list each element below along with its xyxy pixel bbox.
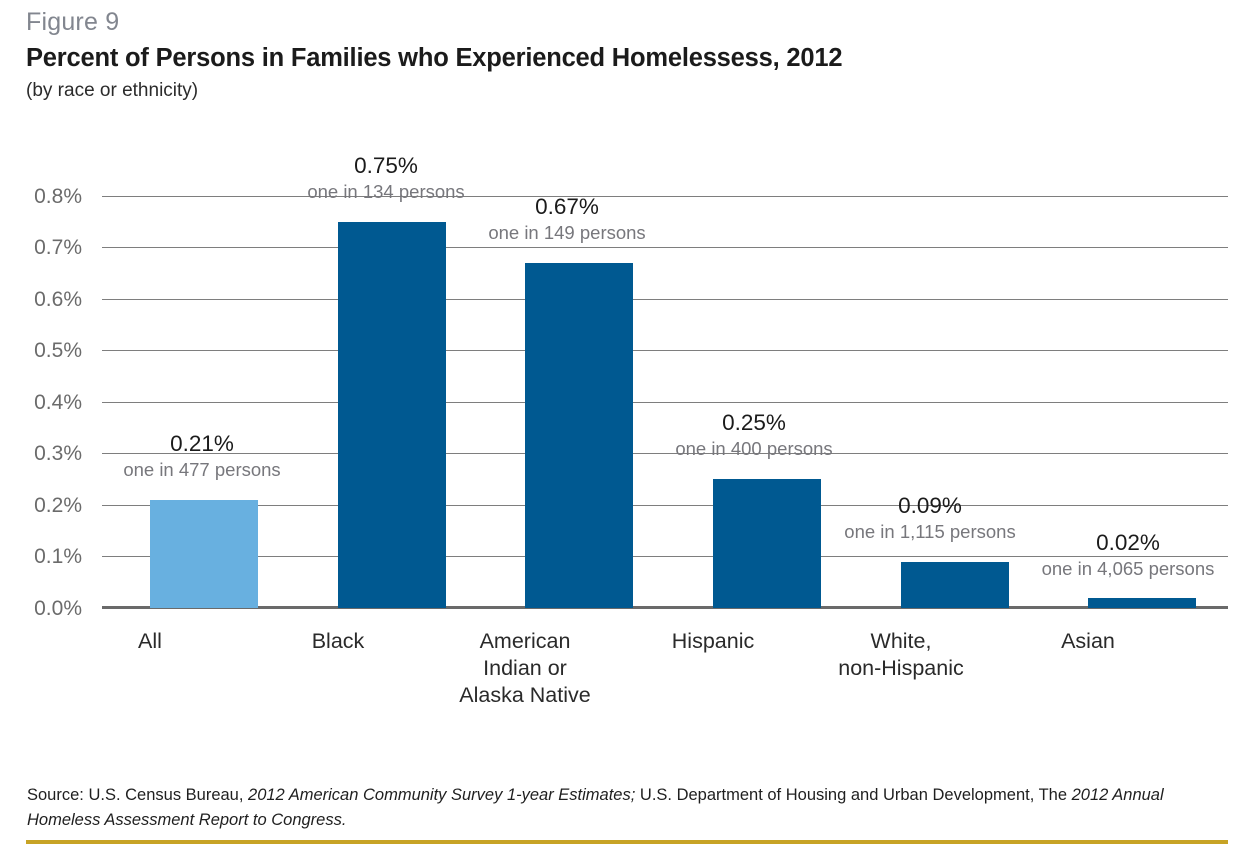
bar-all	[150, 500, 258, 608]
x-axis-label-american-indian: American Indian or Alaska Native	[431, 628, 619, 709]
bar-american-indian	[525, 263, 633, 608]
gridline	[102, 350, 1228, 351]
bar-asian	[1088, 598, 1196, 608]
bar-black	[338, 222, 446, 608]
x-axis-label-line: American	[431, 628, 619, 655]
gridline	[102, 247, 1228, 248]
gridline	[102, 505, 1228, 506]
source-citation-1: 2012 American Community Survey 1-year Es…	[248, 786, 635, 804]
x-axis-label-line: Black	[244, 628, 432, 655]
x-axis-label-line: Indian or	[431, 655, 619, 682]
x-axis-label-line: non-Hispanic	[807, 655, 995, 682]
y-axis-tick-label: 0.1%	[12, 546, 82, 567]
gridline	[102, 556, 1228, 557]
gridline	[102, 453, 1228, 454]
x-axis-label-white: White, non-Hispanic	[807, 628, 995, 682]
page-title: Percent of Persons in Families who Exper…	[26, 41, 1226, 75]
bar-white	[901, 562, 1009, 608]
gridline	[102, 196, 1228, 197]
bar-chart: 0.8% 0.7% 0.6% 0.5% 0.4% 0.3% 0.2% 0.1% …	[0, 130, 1250, 750]
x-axis-label-line: All	[56, 628, 244, 655]
y-axis-tick-label: 0.5%	[12, 340, 82, 361]
gridline	[102, 402, 1228, 403]
x-axis-label-line: Asian	[994, 628, 1182, 655]
source-prefix: Source: U.S. Census Bureau,	[27, 786, 248, 804]
figure-header: Figure 9 Percent of Persons in Families …	[26, 0, 1226, 106]
bar-hispanic	[713, 479, 821, 608]
y-axis-tick-label: 0.8%	[12, 186, 82, 207]
x-axis-label-all: All	[56, 628, 244, 655]
y-axis-tick-label: 0.7%	[12, 237, 82, 258]
x-axis-label-asian: Asian	[994, 628, 1182, 655]
x-axis-line	[102, 606, 1228, 609]
figure-label: Figure 9	[26, 5, 1226, 39]
x-axis-label-line: Alaska Native	[431, 682, 619, 709]
x-axis-label-hispanic: Hispanic	[619, 628, 807, 655]
source-middle: U.S. Department of Housing and Urban Dev…	[635, 786, 1071, 804]
x-axis-label-line: Hispanic	[619, 628, 807, 655]
footer-divider	[26, 840, 1228, 844]
figure-subtitle: (by race or ethnicity)	[26, 76, 1226, 106]
bar-value-label: 0.75%	[284, 153, 488, 179]
y-axis-tick-label: 0.6%	[12, 289, 82, 310]
x-axis-label-line: White,	[807, 628, 995, 655]
gridline	[102, 299, 1228, 300]
plot-area	[102, 196, 1228, 608]
y-axis-tick-label: 0.3%	[12, 443, 82, 464]
y-axis-tick-label: 0.0%	[12, 598, 82, 619]
y-axis-tick-label: 0.2%	[12, 495, 82, 516]
y-axis-tick-label: 0.4%	[12, 392, 82, 413]
source-note: Source: U.S. Census Bureau, 2012 America…	[27, 783, 1212, 833]
x-axis-label-black: Black	[244, 628, 432, 655]
